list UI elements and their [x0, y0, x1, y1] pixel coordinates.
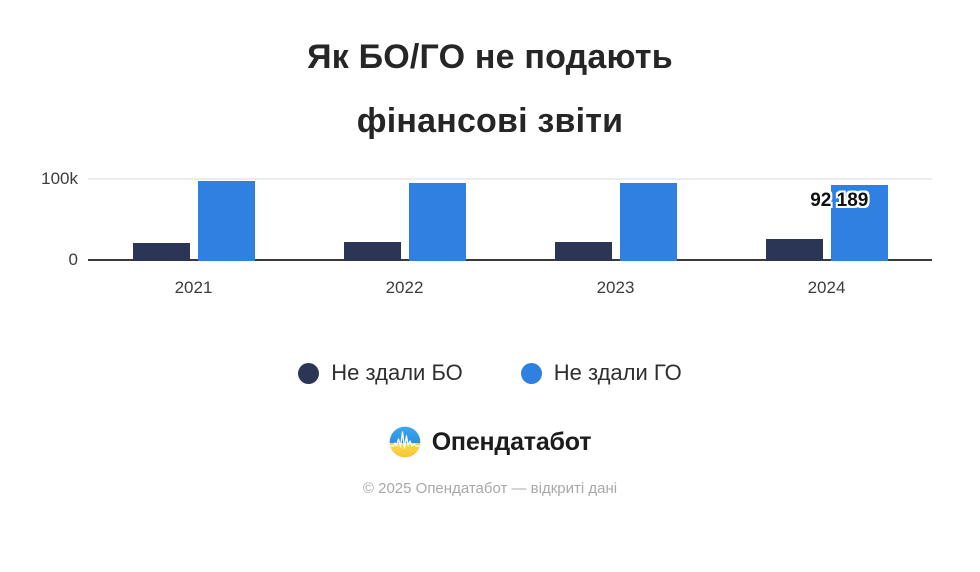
- x-axis-tick-2022: 2022: [299, 278, 510, 298]
- chart-title-line-2: фінансові звіти: [0, 104, 980, 138]
- bar-bo-2021[interactable]: [133, 243, 190, 261]
- legend-item-bo[interactable]: Не здали БО: [298, 360, 462, 386]
- data-label-go-2024: 92 189: [810, 190, 868, 212]
- bar-bo-2024[interactable]: [766, 239, 823, 261]
- legend-swatch-icon: [521, 363, 542, 384]
- x-axis: 2021 2022 2023 2024: [88, 278, 932, 298]
- opendatabot-logo-icon: [389, 426, 421, 458]
- chart-title: Як БО/ГО не подають фінансові звіти: [0, 0, 980, 138]
- chart-page: Як БО/ГО не подають фінансові звіти 100k…: [0, 0, 980, 572]
- bar-bo-2022[interactable]: [344, 242, 401, 261]
- bar-pair: [510, 168, 721, 261]
- legend-label-bo: Не здали БО: [331, 360, 462, 386]
- y-axis-tick-100k: 100k: [41, 169, 78, 189]
- y-axis: 100k 0: [0, 166, 78, 276]
- legend-item-go[interactable]: Не здали ГО: [521, 360, 682, 386]
- bar-go-2023[interactable]: [620, 183, 677, 261]
- x-axis-tick-2021: 2021: [88, 278, 299, 298]
- x-axis-tick-2023: 2023: [510, 278, 721, 298]
- legend-label-go: Не здали ГО: [554, 360, 682, 386]
- bar-go-2022[interactable]: [409, 183, 466, 261]
- legend-swatch-icon: [298, 363, 319, 384]
- bar-group-2021: [88, 166, 299, 261]
- copyright-text: © 2025 Опендатабот — відкриті дані: [0, 480, 980, 497]
- bar-groups: 92 189: [88, 166, 932, 261]
- bar-bo-2023[interactable]: [555, 242, 612, 261]
- chart-plot-area: 100k 0: [0, 166, 980, 316]
- bar-group-2022: [299, 166, 510, 261]
- chart-legend: Не здали БО Не здали ГО: [0, 360, 980, 386]
- bar-go-2021[interactable]: [198, 181, 255, 261]
- chart-title-line-1: Як БО/ГО не подають: [0, 40, 980, 74]
- x-axis-tick-2024: 2024: [721, 278, 932, 298]
- y-axis-tick-0: 0: [69, 250, 78, 270]
- brand-block: Опендатабот: [0, 426, 980, 458]
- bar-pair: [721, 168, 932, 261]
- bar-pair: [299, 168, 510, 261]
- brand-name: Опендатабот: [432, 428, 592, 457]
- bar-pair: [88, 168, 299, 261]
- bar-group-2024: 92 189: [721, 166, 932, 261]
- bar-group-2023: [510, 166, 721, 261]
